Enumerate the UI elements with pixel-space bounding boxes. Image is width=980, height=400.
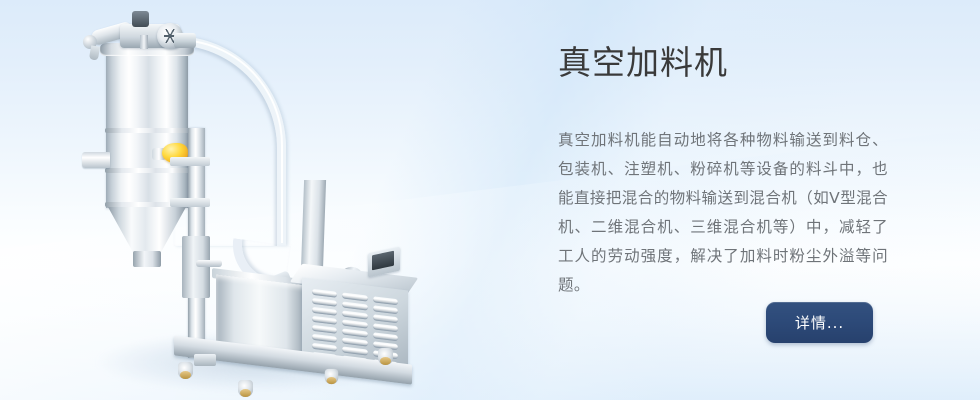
vent-slot — [312, 325, 337, 334]
vent-slot — [312, 343, 337, 352]
base-bracket — [194, 354, 216, 366]
hopper-band — [105, 168, 189, 173]
vent-slot — [312, 307, 337, 316]
caster-wheel — [178, 362, 193, 379]
vent-slot — [342, 310, 367, 319]
vent-slot — [312, 316, 337, 325]
top-valve-stem — [140, 35, 148, 49]
caster-wheel — [238, 380, 253, 397]
vent-slot — [312, 298, 337, 307]
column-slider-plate — [182, 236, 210, 298]
hopper-band — [105, 128, 189, 133]
hopper-outlet — [133, 251, 161, 267]
vent-slot — [342, 346, 367, 355]
top-valve-arm-tail — [89, 45, 100, 60]
vent-slot — [342, 319, 367, 328]
vent-slot — [373, 323, 398, 332]
banner-text-block: 真空加料机 真空加料机能自动地将各种物料输送到料仓、包装机、注塑机、粉碎机等设备… — [558, 42, 898, 300]
vacuum-feeder-machine-image — [78, 2, 408, 398]
vent-slot — [312, 334, 337, 343]
details-button[interactable]: 详情... — [766, 302, 873, 343]
top-valve-knob — [132, 11, 149, 27]
product-banner: 真空加料机 真空加料机能自动地将各种物料输送到料仓、包装机、注塑机、粉碎机等设备… — [0, 0, 980, 400]
column-bracket — [170, 157, 210, 166]
caster-wheel — [378, 348, 393, 365]
vent-slot — [342, 328, 367, 337]
caster-wheel — [325, 369, 339, 384]
vent-slot — [342, 301, 367, 310]
vent-slot — [373, 314, 398, 323]
vent-slot — [373, 332, 398, 341]
product-description: 真空加料机能自动地将各种物料输送到料仓、包装机、注塑机、粉碎机等设备的料斗中，也… — [558, 126, 888, 300]
page-title: 真空加料机 — [558, 42, 898, 84]
column-slider-handle — [196, 260, 222, 267]
hopper-side-nozzle — [82, 152, 110, 168]
vent-slot — [342, 337, 367, 346]
vent-slot — [373, 305, 398, 314]
column-bracket — [170, 198, 210, 207]
hose-coupler — [174, 33, 196, 48]
